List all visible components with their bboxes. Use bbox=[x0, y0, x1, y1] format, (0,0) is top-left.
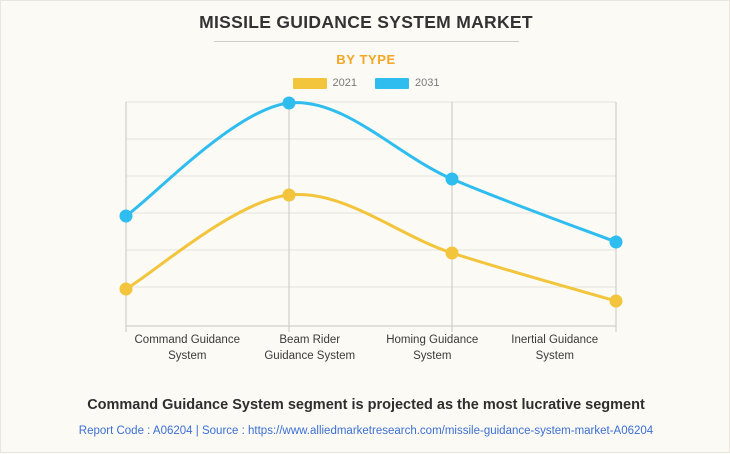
source-link[interactable]: Source : https://www.alliedmarketresearc… bbox=[202, 425, 653, 437]
x-tick-command-guidance-system: Command Guidance System bbox=[126, 332, 249, 364]
x-tick-line-1: Command Guidance bbox=[126, 332, 249, 348]
series-lines bbox=[126, 103, 616, 301]
title-divider bbox=[214, 41, 519, 42]
series-line-2021 bbox=[126, 194, 616, 301]
legend-item-2031[interactable]: 2031 bbox=[375, 77, 439, 89]
series-line-2031 bbox=[126, 103, 616, 242]
horizontal-gridlines bbox=[126, 102, 616, 326]
data-point-2021-3[interactable] bbox=[610, 295, 623, 308]
legend-swatch-2031 bbox=[375, 78, 409, 89]
legend-label-2021: 2021 bbox=[333, 77, 357, 89]
data-point-2021-0[interactable] bbox=[120, 283, 133, 296]
data-point-2031-3[interactable] bbox=[610, 236, 623, 249]
x-tick-line-2: System bbox=[371, 348, 494, 364]
source-separator: | bbox=[196, 425, 199, 437]
vertical-gridlines bbox=[126, 102, 616, 332]
data-point-2031-0[interactable] bbox=[120, 210, 133, 223]
x-tick-line-2: Guidance System bbox=[249, 348, 372, 364]
data-point-2031-1[interactable] bbox=[283, 97, 296, 110]
source-line: Report Code : A06204 | Source : https://… bbox=[1, 425, 730, 437]
chart-legend: 2021 2031 bbox=[1, 77, 730, 89]
legend-item-2021[interactable]: 2021 bbox=[293, 77, 357, 89]
x-axis-labels: Command Guidance System Beam Rider Guida… bbox=[126, 332, 616, 364]
x-tick-line-1: Inertial Guidance bbox=[494, 332, 617, 348]
data-point-2031-2[interactable] bbox=[446, 173, 459, 186]
x-tick-homing-guidance-system: Homing Guidance System bbox=[371, 332, 494, 364]
x-tick-inertial-guidance-system: Inertial Guidance System bbox=[494, 332, 617, 364]
x-tick-line-1: Homing Guidance bbox=[371, 332, 494, 348]
data-point-2021-2[interactable] bbox=[446, 247, 459, 260]
report-code-label: Report Code : A06204 bbox=[79, 425, 193, 437]
x-tick-line-2: System bbox=[126, 348, 249, 364]
chart-subtitle: BY TYPE bbox=[1, 52, 730, 67]
data-point-2021-1[interactable] bbox=[283, 189, 296, 202]
chart-page: MISSILE GUIDANCE SYSTEM MARKET BY TYPE 2… bbox=[0, 0, 730, 453]
x-tick-line-2: System bbox=[494, 348, 617, 364]
x-tick-line-1: Beam Rider bbox=[249, 332, 372, 348]
plot-area bbox=[1, 1, 730, 454]
legend-label-2031: 2031 bbox=[415, 77, 439, 89]
page-title: MISSILE GUIDANCE SYSTEM MARKET bbox=[1, 12, 730, 33]
chart-caption: Command Guidance System segment is proje… bbox=[1, 397, 730, 413]
line-chart-svg bbox=[1, 1, 730, 454]
legend-swatch-2021 bbox=[293, 78, 327, 89]
x-tick-beam-rider-guidance-system: Beam Rider Guidance System bbox=[249, 332, 372, 364]
series-markers bbox=[120, 97, 623, 308]
